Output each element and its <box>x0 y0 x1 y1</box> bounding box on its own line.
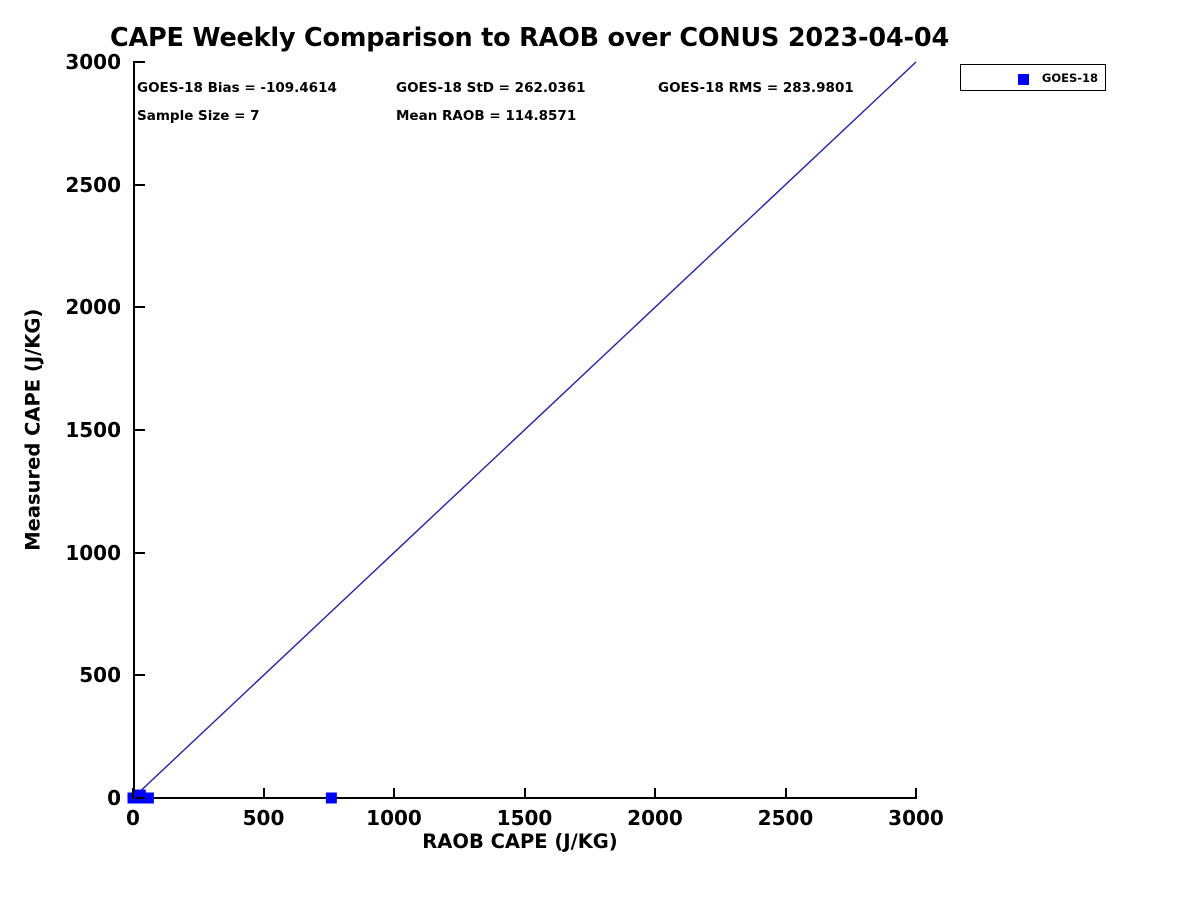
legend-label-goes-18: GOES-18 <box>1041 73 1099 85</box>
data-layer <box>133 62 916 798</box>
legend[interactable]: GOES-18 <box>960 64 1106 91</box>
y-tick-0 <box>135 797 145 799</box>
x-ticklabel-2000: 2000 <box>595 808 715 828</box>
stat-mean-raob: Mean RAOB = 114.8571 <box>396 110 576 124</box>
y-ticklabel-500: 500 <box>0 665 121 685</box>
y-ticklabel-1500: 1500 <box>0 420 121 440</box>
x-ticklabel-3000: 3000 <box>856 808 976 828</box>
page-title: CAPE Weekly Comparison to RAOB over CONU… <box>110 26 970 52</box>
one-to-one-reference-line <box>133 62 916 798</box>
stat-std: GOES-18 StD = 262.0361 <box>396 82 586 96</box>
y-tick-2500 <box>135 184 145 186</box>
legend-swatch-goes-18 <box>1018 74 1029 85</box>
y-tick-1500 <box>135 429 145 431</box>
x-ticklabel-1000: 1000 <box>334 808 454 828</box>
stat-rms: GOES-18 RMS = 283.9801 <box>658 82 854 96</box>
stat-bias: GOES-18 Bias = -109.4614 <box>137 82 337 96</box>
x-tick-2500 <box>785 788 787 798</box>
scatter-points <box>128 790 337 804</box>
y-tick-2000 <box>135 306 145 308</box>
chart-figure: CAPE Weekly Comparison to RAOB over CONU… <box>0 0 1200 900</box>
x-tick-1500 <box>524 788 526 798</box>
x-axis-label: RAOB CAPE (J/KG) <box>0 832 1040 852</box>
y-ticklabel-2000: 2000 <box>0 297 121 317</box>
x-ticklabel-0: 0 <box>73 808 193 828</box>
y-tick-1000 <box>135 552 145 554</box>
x-tick-0 <box>132 788 134 798</box>
y-ticklabel-2500: 2500 <box>0 175 121 195</box>
plot-area <box>133 62 916 798</box>
x-ticklabel-1500: 1500 <box>465 808 585 828</box>
y-axis-label: Measured CAPE (J/KG) <box>23 62 43 798</box>
x-tick-3000 <box>915 788 917 798</box>
y-tick-3000 <box>135 61 145 63</box>
x-tick-1000 <box>393 788 395 798</box>
data-point <box>326 793 337 804</box>
stat-sample-size: Sample Size = 7 <box>137 110 260 124</box>
x-tick-2000 <box>654 788 656 798</box>
x-ticklabel-2500: 2500 <box>726 808 846 828</box>
y-ticklabel-0: 0 <box>0 788 121 808</box>
x-tick-500 <box>263 788 265 798</box>
y-ticklabel-1000: 1000 <box>0 543 121 563</box>
y-ticklabel-3000: 3000 <box>0 52 121 72</box>
x-ticklabel-500: 500 <box>204 808 324 828</box>
y-tick-500 <box>135 674 145 676</box>
